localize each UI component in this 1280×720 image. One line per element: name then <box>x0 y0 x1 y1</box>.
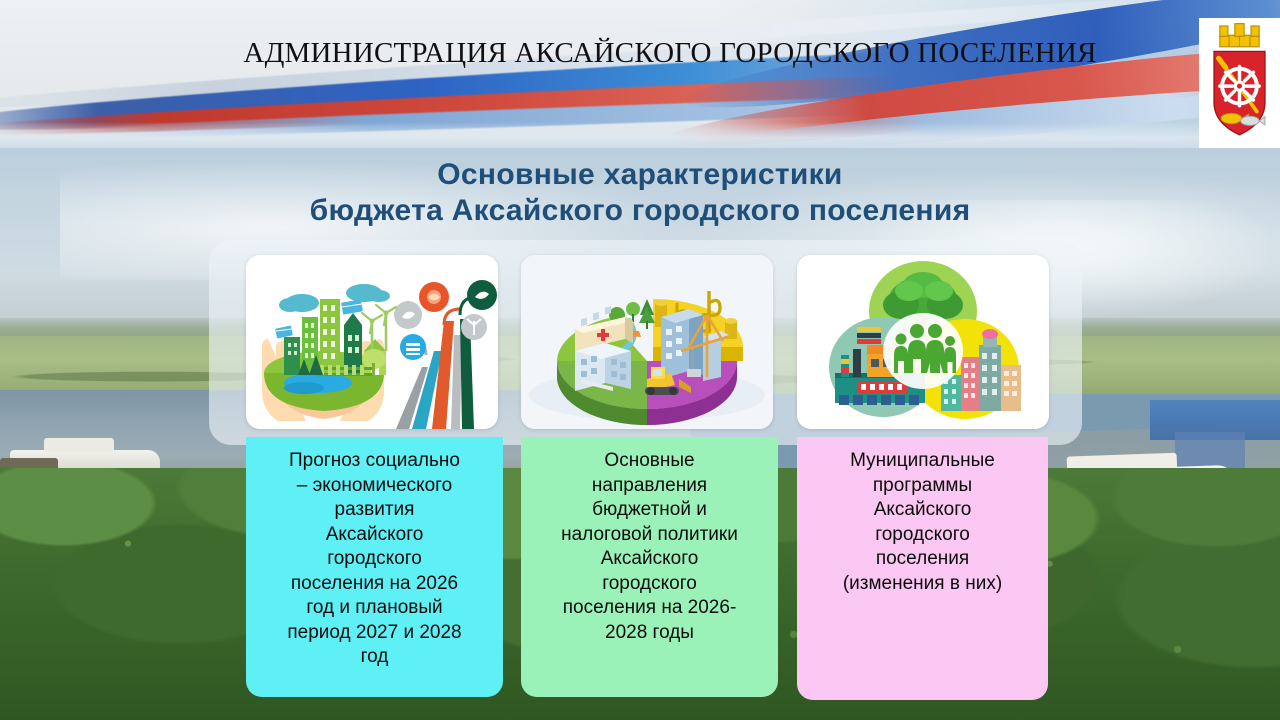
text-line: Муниципальные <box>807 449 1038 474</box>
text-line: год и плановый <box>256 596 493 621</box>
venn-circles-family-icon <box>797 255 1049 429</box>
text-line: поселения <box>807 547 1038 572</box>
header-fade <box>0 122 1280 148</box>
text-card-forecast: Прогноз социально – экономического разви… <box>246 437 503 697</box>
text-line: Аксайского <box>256 523 493 548</box>
text-line: направления <box>531 474 768 499</box>
eco-city-in-hands-icon <box>246 255 498 429</box>
coat-of-arms-aksay-icon <box>1199 19 1280 146</box>
text-card-programs: Муниципальные программы Аксайского город… <box>797 437 1048 700</box>
text-line: развития <box>256 498 493 523</box>
text-line: 2028 годы <box>531 621 768 646</box>
text-line: городского <box>531 572 768 597</box>
text-line: городского <box>807 523 1038 548</box>
text-line: Аксайского <box>531 547 768 572</box>
illustration-card-policy[interactable] <box>521 255 773 429</box>
text-line: налоговой политики <box>531 523 768 548</box>
text-line: городского <box>256 547 493 572</box>
emblem-container <box>1199 18 1280 148</box>
slide-title: Основные характеристики бюджета Аксайско… <box>120 157 1160 229</box>
text-line: поселения на 2026 <box>256 572 493 597</box>
text-line: бюджетной и <box>531 498 768 523</box>
text-line: программы <box>807 474 1038 499</box>
header-banner: АДМИНИСТРАЦИЯ АКСАЙСКОГО ГОРОДСКОГО ПОСЕ… <box>0 0 1280 148</box>
illustration-card-forecast[interactable] <box>246 255 498 429</box>
text-card-policy: Основные направления бюджетной и налогов… <box>521 437 778 697</box>
text-line: Аксайского <box>807 498 1038 523</box>
slide-title-line2: бюджета Аксайского городского поселения <box>120 193 1160 229</box>
text-line: – экономического <box>256 474 493 499</box>
text-line: период 2027 и 2028 <box>256 621 493 646</box>
slide-title-line1: Основные характеристики <box>437 158 842 191</box>
isometric-pie-chart-city-icon <box>521 255 773 429</box>
presentation-slide: АДМИНИСТРАЦИЯ АКСАЙСКОГО ГОРОДСКОГО ПОСЕ… <box>0 0 1280 720</box>
text-line: Основные <box>531 449 768 474</box>
illustration-card-programs[interactable] <box>797 255 1049 429</box>
text-line: поселения на 2026- <box>531 596 768 621</box>
organization-title: АДМИНИСТРАЦИЯ АКСАЙСКОГО ГОРОДСКОГО ПОСЕ… <box>150 36 1190 70</box>
text-line: год <box>256 645 493 670</box>
text-line: (изменения в них) <box>807 572 1038 597</box>
text-line: Прогноз социально <box>256 449 493 474</box>
